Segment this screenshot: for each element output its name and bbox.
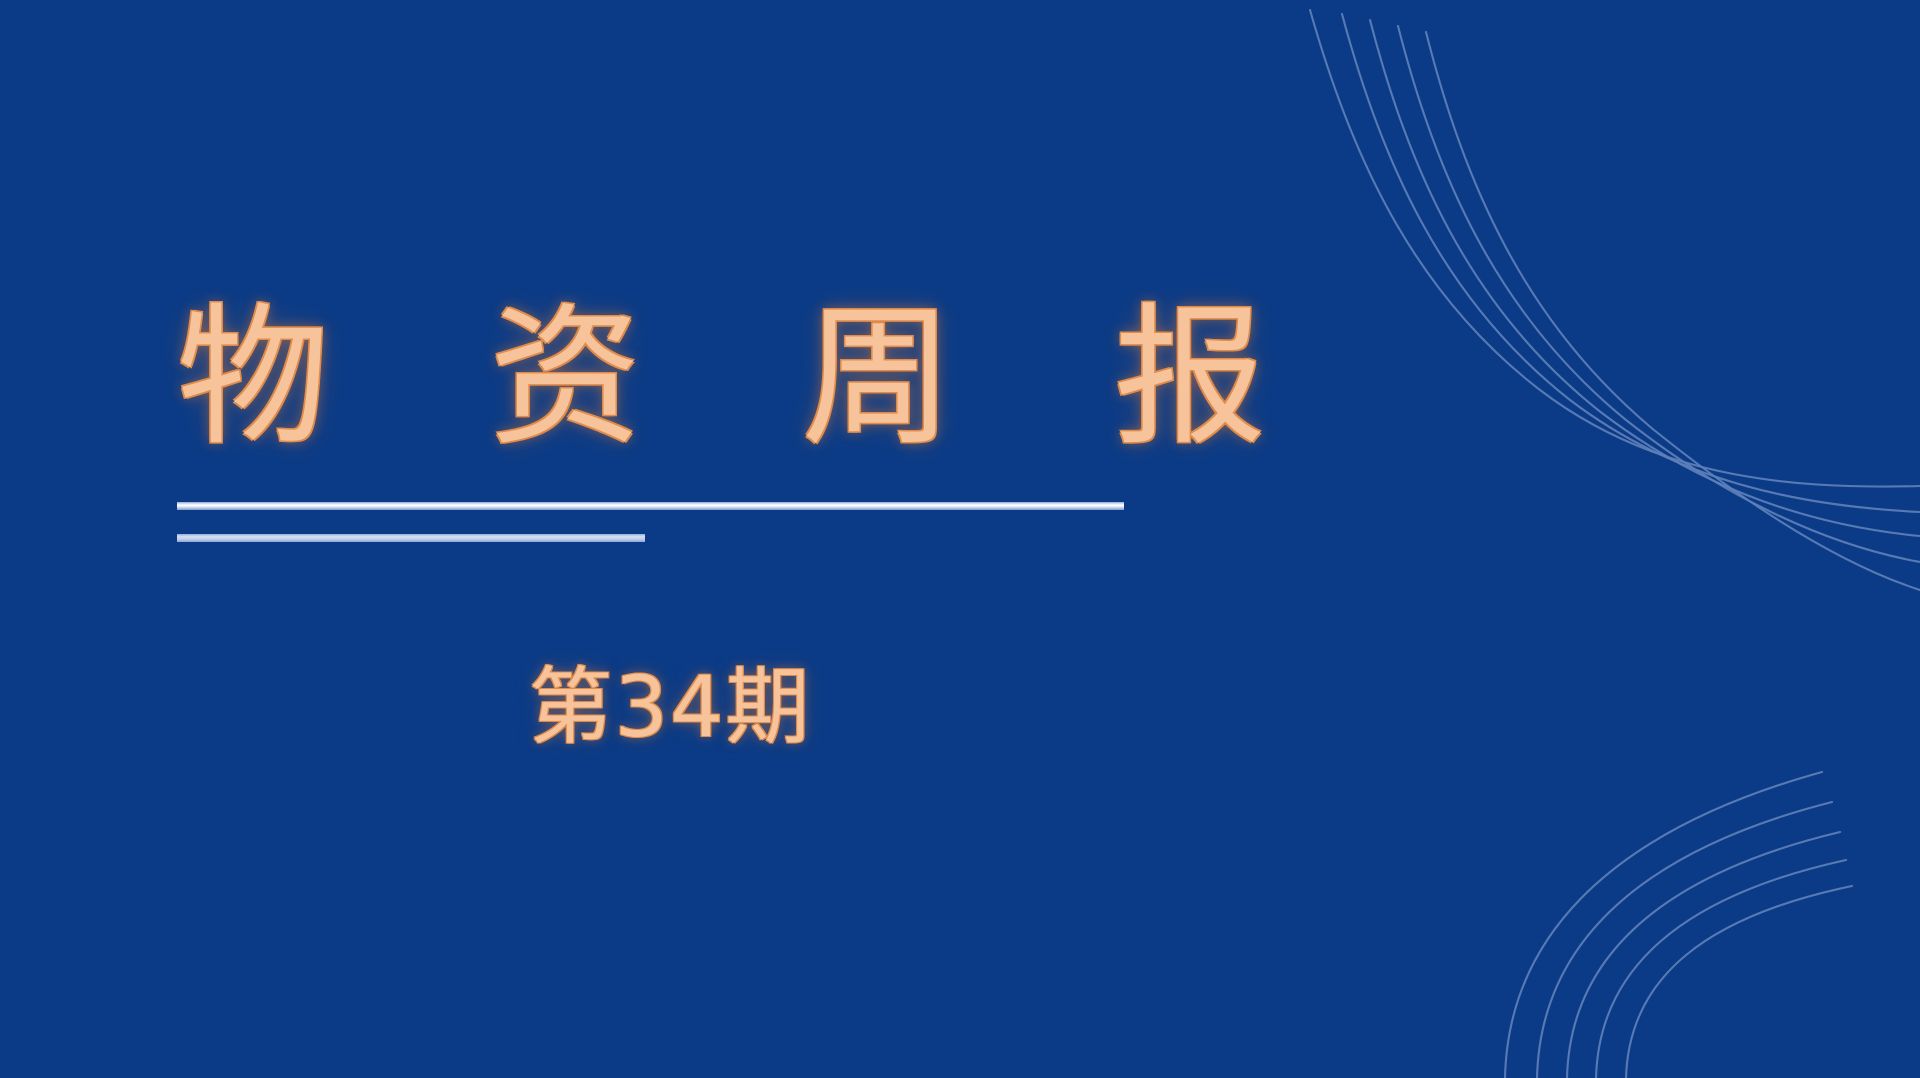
curve-line-5: [1426, 32, 1920, 590]
page-title: 物 资 周 报: [177, 296, 1177, 460]
arc-line-3: [1567, 832, 1840, 1078]
title-underline-long: [177, 502, 1124, 510]
curve-line-3: [1370, 20, 1920, 536]
curve-line-1: [1310, 10, 1920, 487]
title-underline-short: [177, 534, 645, 542]
arc-line-2: [1537, 802, 1832, 1078]
title-block: 物 资 周 报: [177, 296, 1177, 460]
arc-line-4: [1596, 860, 1846, 1078]
arc-line-1: [1505, 772, 1822, 1078]
curve-line-2: [1342, 14, 1920, 512]
concentric-arc-lines-decoration: [1480, 738, 1920, 1078]
flowing-curve-lines-decoration: [1260, 0, 1920, 600]
issue-subtitle: 第34期: [0, 660, 1340, 754]
curve-line-4: [1398, 26, 1920, 562]
title-slide: 物 资 周 报 第34期: [0, 0, 1920, 1078]
arc-line-5: [1626, 886, 1852, 1078]
top-right-curves-svg: [1260, 0, 1920, 600]
bottom-right-arcs-svg: [1480, 738, 1920, 1078]
